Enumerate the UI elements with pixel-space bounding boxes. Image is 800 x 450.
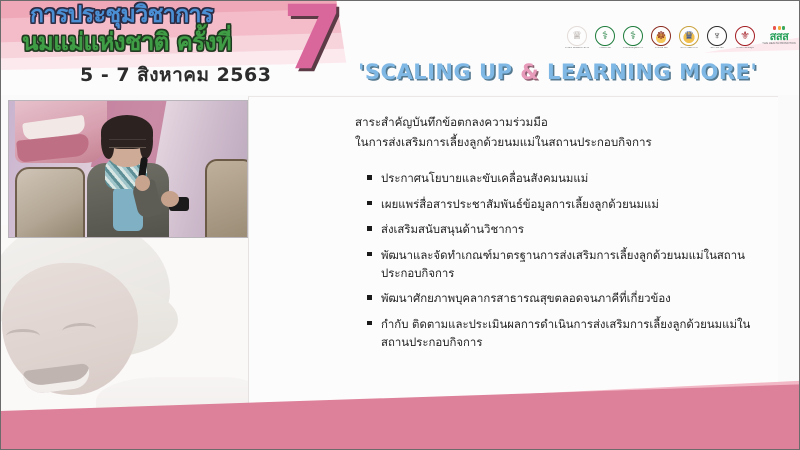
royal-emblem-logo-mark: ♕ [567, 26, 587, 46]
content-heading-line-1: สาระสำคัญบันทึกข้อตกลงความร่วมมือ [355, 113, 755, 133]
thaihealth-subtitle: THAI HEALTH PROMOTION [762, 42, 795, 45]
thai-pediatric-logo-mark: ☸ [651, 26, 671, 46]
university-seal-logo-caption: มหาวิทยาลัย [705, 47, 729, 50]
thai-pediatric-logo: ☸ราชวิทยาลัย [650, 26, 672, 50]
ministry-public-health-logo-caption: กรมอนามัย [593, 47, 617, 50]
bullet-item: พัฒนาศักยภาพบุคลากรสาธารณสุขตลอดจนภาคีที… [367, 289, 767, 307]
speaker-eyeglasses [109, 139, 146, 148]
presentation-slide: การประชุมวิชาการ นมแม่แห่งชาติ ครั้งที่ … [0, 0, 800, 450]
bullet-item: กำกับ ติดตามและประเมินผลการดำเนินการส่งเ… [367, 315, 767, 351]
speaker-hand [135, 175, 150, 191]
royal-crest-logo-mark: ♛ [679, 26, 699, 46]
tagline-ampersand: & [520, 60, 539, 84]
bullet-item: เผยแพร่สื่อสารประชาสัมพันธ์ข้อมูลการเลี้… [367, 195, 767, 213]
thaihealth-sss-logo: สสส THAI HEALTH PROMOTION [762, 26, 796, 45]
video-armchair-right [205, 159, 248, 238]
content-heading: สาระสำคัญบันทึกข้อตกลงความร่วมมือ ในการส… [355, 113, 755, 153]
sponsor-logo-strip: ♕สำนักงานปลัดกระทรวง⚕กรมอนามัย⚕กรมสนับสน… [566, 26, 796, 60]
tagline-prefix: 'SCALING UP [358, 60, 520, 84]
bullet-item: พัฒนาและจัดทำเกณฑ์มาตรฐานการส่งเสริมการเ… [367, 246, 767, 282]
royal-emblem-logo: ♕สำนักงานปลัดกระทรวง [566, 26, 588, 50]
thaihealth-wordmark: สสส [770, 31, 789, 42]
garuda-seal-logo-caption: สำนักงานกองทุน [733, 47, 757, 50]
ministry-public-health-logo: ⚕กรมอนามัย [594, 26, 616, 50]
content-heading-line-2: ในการส่งเสริมการเลี้ยงลูกด้วยนมแม่ในสถาน… [355, 133, 755, 153]
event-title-line-2: นมแม่แห่งชาติ ครั้งที่ [22, 30, 231, 54]
royal-emblem-logo-caption: สำนักงานปลัดกระทรวง [565, 47, 589, 50]
event-tagline: 'SCALING UP & LEARNING MORE' [358, 60, 757, 84]
watermark-eye-left [6, 329, 40, 336]
speaker-hand-second [161, 191, 179, 207]
garuda-seal-logo: ⚜สำนักงานกองทุน [734, 26, 756, 50]
slide-content-panel: สาระสำคัญบันทึกข้อตกลงความร่วมมือ ในการส… [248, 96, 778, 426]
speaker-video-inset[interactable] [8, 100, 248, 238]
event-date-range: 5 - 7 สิงหาคม 2563 [80, 60, 271, 90]
event-title-block: การประชุมวิชาการ นมแม่แห่งชาติ ครั้งที่ … [18, 0, 308, 95]
health-department-logo: ⚕กรมสนับสนุนบริการ [622, 26, 644, 50]
smiling-child-watermark-image [0, 225, 252, 425]
health-department-logo-caption: กรมสนับสนุนบริการ [621, 47, 645, 50]
thai-pediatric-logo-caption: ราชวิทยาลัย [649, 47, 673, 50]
university-seal-logo-mark: ♆ [707, 26, 727, 46]
royal-crest-logo-caption: สภาการพยาบาล [677, 47, 701, 50]
bullet-item: ประกาศนโยบายและขับเคลื่อนสังคมนมแม่ [367, 169, 767, 187]
video-armchair-left [15, 167, 85, 238]
royal-crest-logo: ♛สภาการพยาบาล [678, 26, 700, 50]
tagline-suffix: LEARNING MORE' [547, 60, 757, 84]
bullet-item: ส่งเสริมสนับสนุนด้านวิชาการ [367, 220, 767, 238]
edition-number: 7 [282, 0, 343, 82]
garuda-seal-logo-mark: ⚜ [735, 26, 755, 46]
event-title-line-1: การประชุมวิชาการ [30, 4, 213, 27]
ministry-public-health-logo-mark: ⚕ [595, 26, 615, 46]
slide-header-banner: การประชุมวิชาการ นมแม่แห่งชาติ ครั้งที่ … [0, 0, 800, 95]
university-seal-logo: ♆มหาวิทยาลัย [706, 26, 728, 50]
content-bullet-list: ประกาศนโยบายและขับเคลื่อนสังคมนมแม่เผยแพ… [367, 169, 767, 358]
health-department-logo-mark: ⚕ [623, 26, 643, 46]
